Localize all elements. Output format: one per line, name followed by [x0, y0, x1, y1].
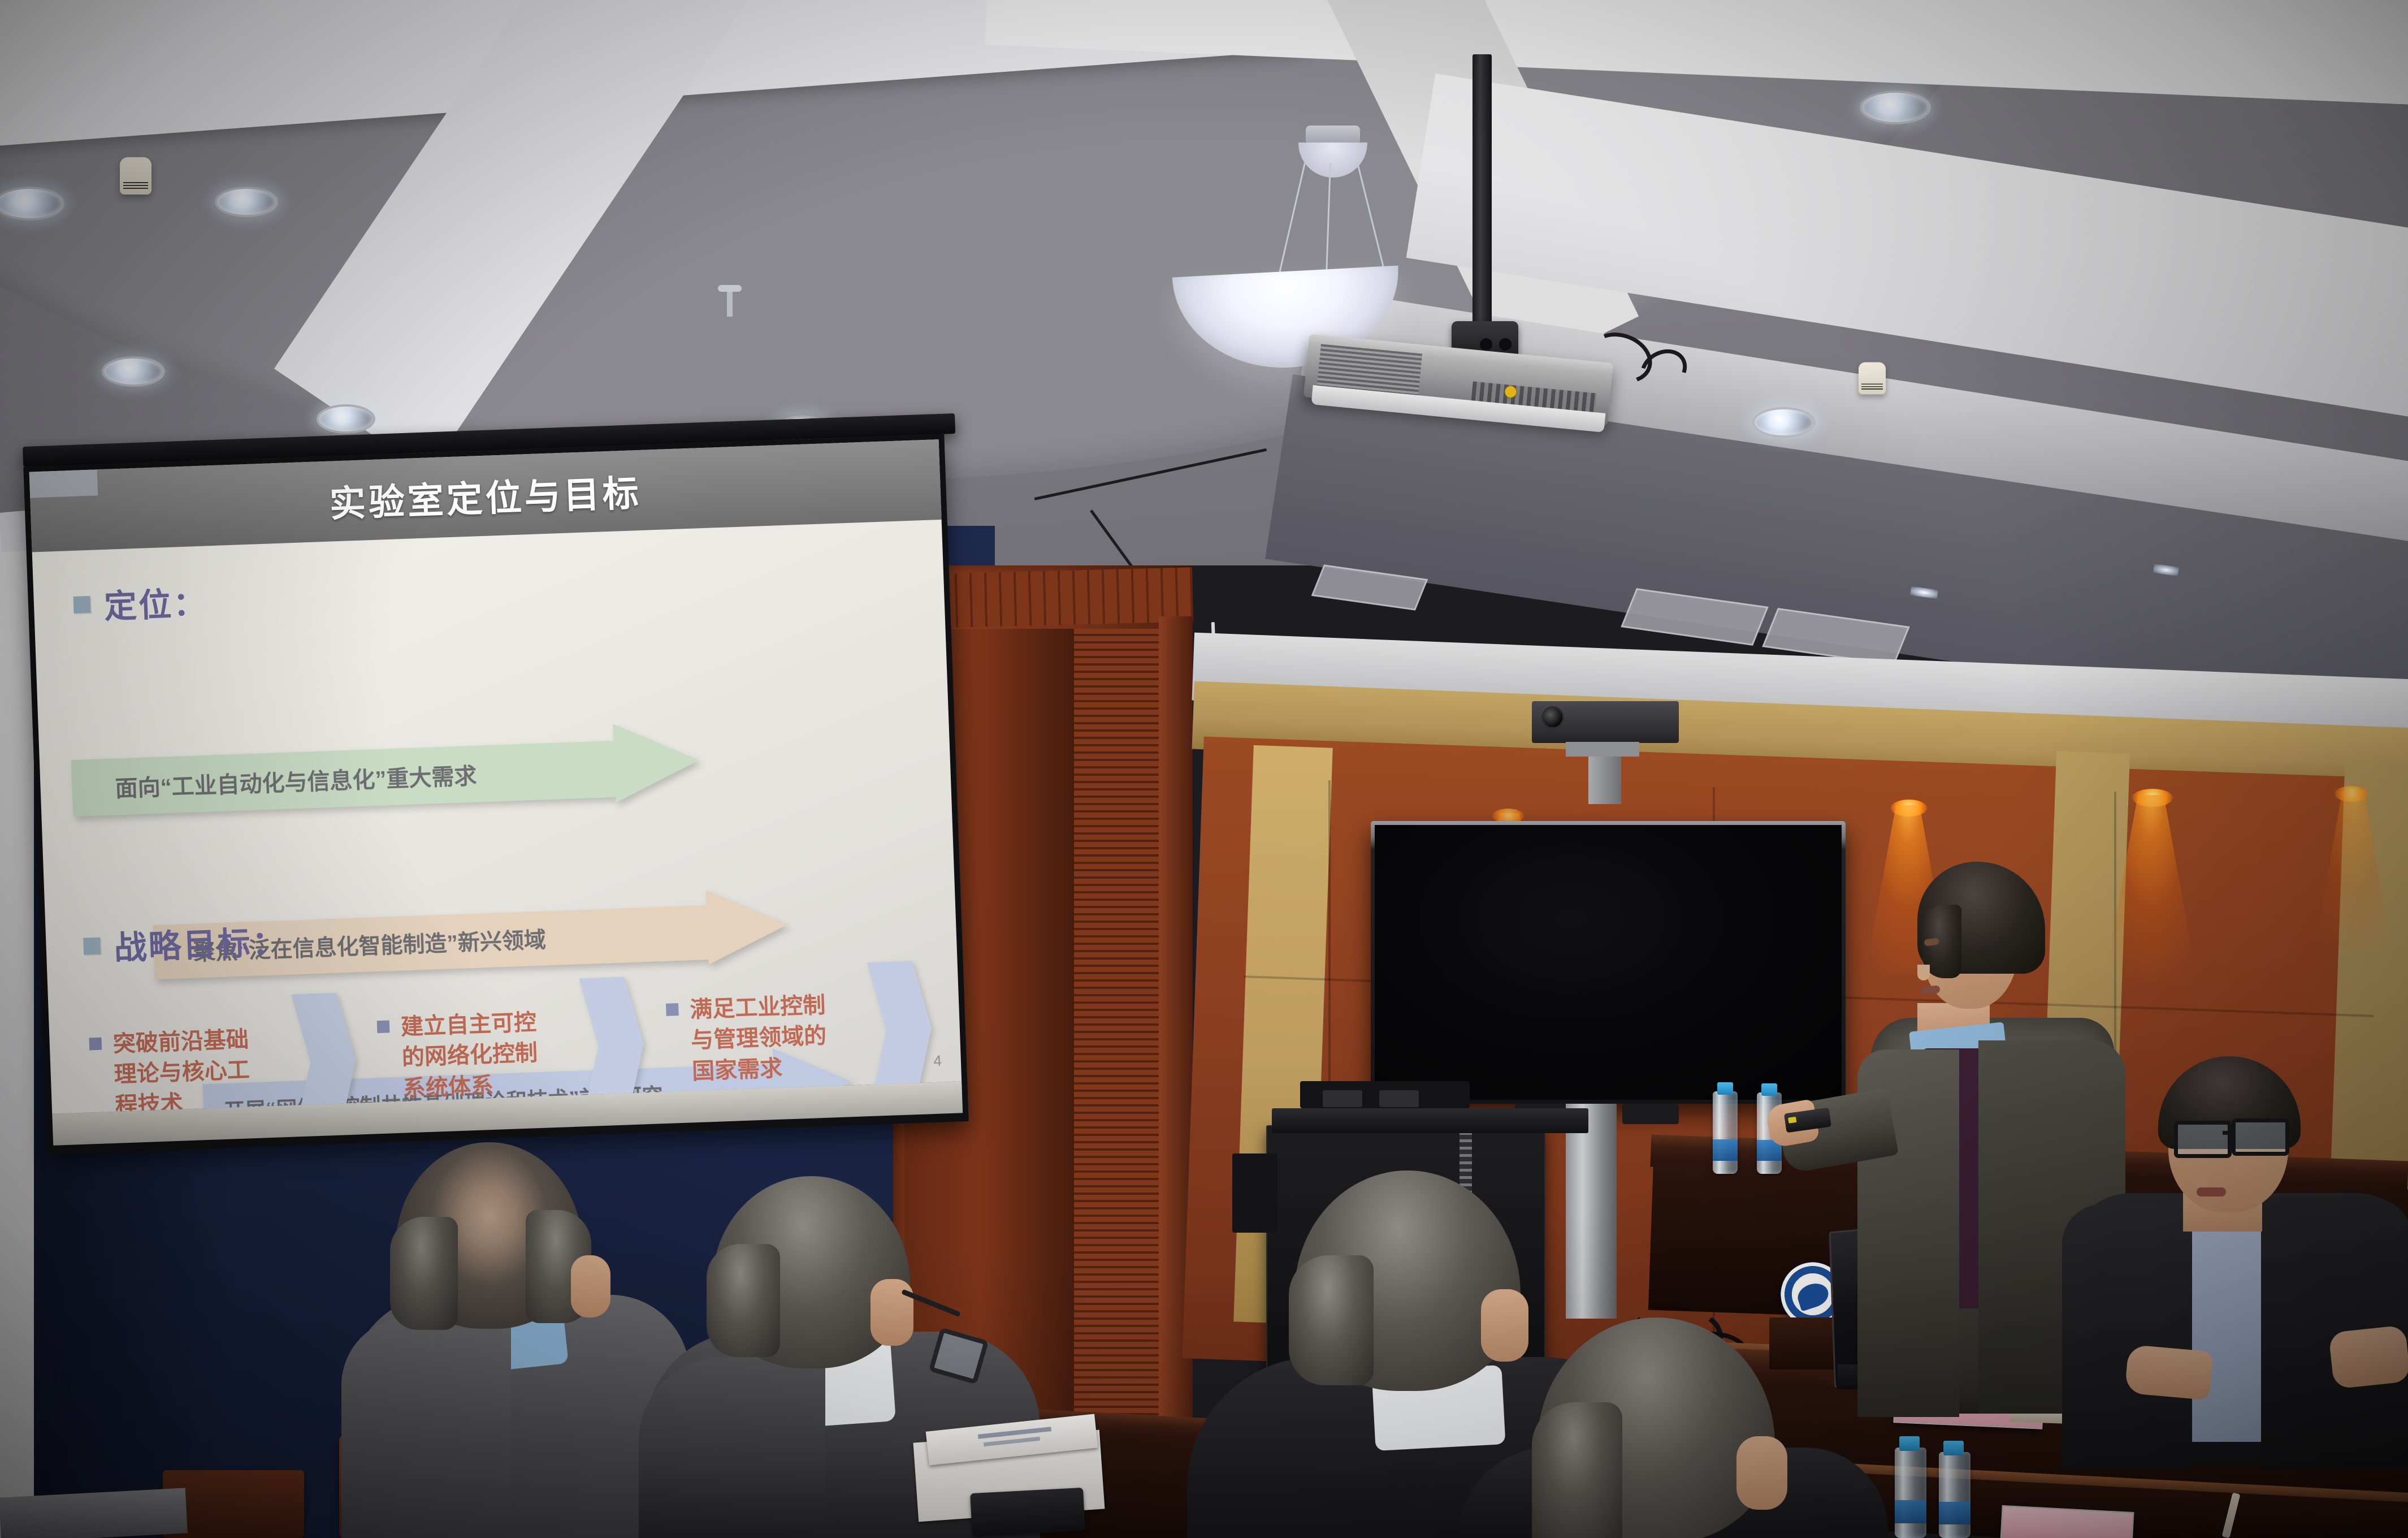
downlight-icon: [215, 187, 278, 217]
tv-stand-column: [1566, 1104, 1617, 1319]
conference-room-photo: 实验室定位与目标 定位： 面向“工业自动化与信息化”重大需求: [0, 0, 2408, 1538]
smartphone[interactable]: [970, 1488, 1085, 1536]
panelist-nose: [2195, 1170, 2210, 1189]
bullet-square-icon: [377, 1020, 390, 1033]
rack-side-unit: [1232, 1153, 1277, 1233]
bullet-square-icon: [83, 938, 101, 955]
flat-panel-tv: [1371, 821, 1846, 1104]
tv-stand-bracket: [1622, 1104, 1679, 1124]
glasses-left-lens-icon: [2174, 1121, 2232, 1158]
camera-mount: [1566, 742, 1639, 757]
audience-1-shoulder: [341, 1317, 511, 1538]
glasses-right-lens-icon: [2232, 1118, 2289, 1156]
panelist-hand: [2125, 1345, 2214, 1401]
rack-equipment-knob: [1323, 1090, 1362, 1107]
bullet-square-icon: [666, 1003, 679, 1016]
camera-lens-icon: [1543, 708, 1562, 727]
section-label-positioning: 定位：: [103, 577, 209, 628]
panelist-jacket-left: [2062, 1204, 2192, 1470]
water-bottle: [1939, 1452, 1970, 1538]
camera-stand: [1588, 757, 1621, 804]
slide-corner-accent: [29, 469, 98, 498]
glasses-bridge-icon: [2223, 1131, 2234, 1135]
bottle-label: [1713, 1139, 1738, 1161]
goal-2-line-2: 的网络化控制: [401, 1038, 538, 1074]
goal-2-line-1: 建立自主可控: [400, 1007, 537, 1043]
bottle-cap-icon: [1943, 1441, 1964, 1455]
audience-2-shoulder: [639, 1357, 825, 1538]
slide-arrow-1: 面向“工业自动化与信息化”重大需求: [71, 720, 711, 822]
goal-1-line-1: 突破前沿基础: [112, 1024, 249, 1060]
rack-top-shelf: [1272, 1108, 1588, 1133]
bottle-label: [1895, 1500, 1926, 1524]
presenter-nose: [1917, 965, 1930, 980]
goal-3-line-1: 满足工业控制: [689, 990, 826, 1026]
bottle-cap-icon: [1761, 1083, 1777, 1096]
water-bottle: [1895, 1448, 1926, 1538]
slide-section-heading-1: 定位：: [73, 577, 209, 629]
goal-3-line-2: 与管理领域的: [690, 1021, 827, 1056]
bottle-cap-icon: [1717, 1082, 1733, 1095]
bullet-square-icon: [89, 1038, 102, 1051]
slide-goal-3: 满足工业控制 与管理领域的 国家需求: [665, 990, 828, 1088]
water-bottle: [1713, 1091, 1738, 1174]
bullet-square-icon: [73, 596, 91, 614]
smoke-detector-icon: [120, 157, 151, 195]
screen-frame: 实验室定位与目标 定位： 面向“工业自动化与信息化”重大需求: [23, 434, 968, 1155]
audience-2-ear: [870, 1279, 913, 1346]
audience-1-ear: [571, 1255, 610, 1317]
door-louver-panel: [1074, 629, 1159, 1538]
arrow-head-icon: [613, 721, 700, 803]
slide-title: 实验室定位与目标: [328, 464, 642, 528]
goal-3-line-3: 国家需求: [691, 1052, 828, 1087]
projection-screen: 实验室定位与目标 定位： 面向“工业自动化与信息化”重大需求: [23, 413, 980, 1154]
panelist-mouth: [2197, 1187, 2226, 1196]
audience-2-hair-side: [707, 1244, 780, 1357]
rack-equipment-knob: [1379, 1090, 1419, 1107]
pendant-canopy: [1306, 126, 1360, 145]
bottle-cap-icon: [1899, 1436, 1920, 1451]
audience-3-ear: [1481, 1289, 1528, 1362]
audience-4-hair-side: [1532, 1402, 1622, 1538]
projector-mount-pole: [1472, 54, 1492, 331]
slide-surface: 实验室定位与目标 定位： 面向“工业自动化与信息化”重大需求: [29, 439, 962, 1114]
slide-page-number: 4: [933, 1052, 942, 1070]
bottle-label: [1939, 1502, 1970, 1524]
audience-1-hair-side: [390, 1217, 458, 1330]
door-jamb: [1159, 616, 1193, 1538]
slide-goal-2: 建立自主可控 的网络化控制 系统体系: [376, 1007, 539, 1105]
smoke-detector-icon: [1859, 362, 1886, 395]
goal-1-line-2: 理论与核心工: [114, 1055, 250, 1091]
panelist-hand-2: [2328, 1325, 2408, 1389]
audience-3-hair-side: [1289, 1255, 1374, 1385]
downlight-icon: [102, 356, 165, 387]
slide-section-heading-2: 战略目标：: [83, 915, 287, 970]
tv-screen: [1375, 825, 1842, 1100]
downlight-icon: [317, 404, 375, 434]
downlight-icon: [1860, 90, 1931, 124]
audience-4-ear: [1736, 1436, 1787, 1510]
downlight-icon: [1752, 407, 1816, 438]
chevron-icon: [285, 992, 364, 1114]
ceiling-hook-icon: [727, 290, 733, 317]
arrow-head-icon: [706, 887, 789, 965]
arrow-text-1: 面向“工业自动化与信息化”重大需求: [115, 758, 478, 803]
video-conference-camera: [1532, 701, 1679, 743]
slide-goal-1: 突破前沿基础 理论与核心工 程技术: [89, 1024, 252, 1113]
section-label-strategic-goals: 战略目标：: [113, 915, 287, 969]
chevron-icon: [861, 960, 940, 1098]
